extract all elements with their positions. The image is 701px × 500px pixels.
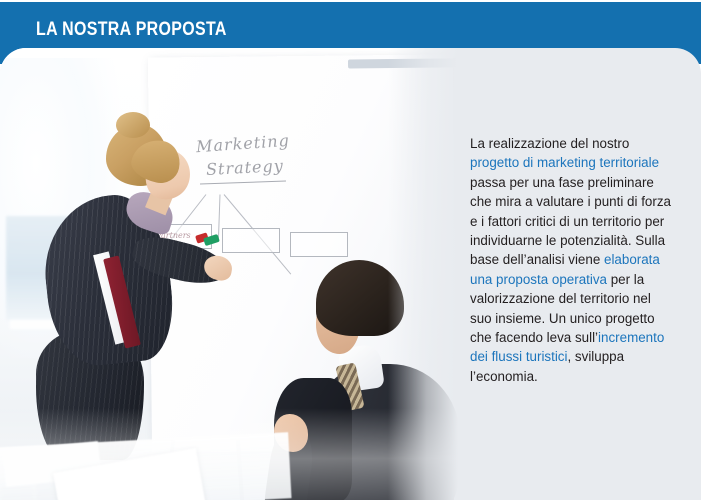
woman-hair-bun	[116, 112, 150, 138]
meeting-photo: Marketing Strategy Partners	[0, 48, 458, 500]
slide-root: LA NOSTRA PROPOSTA Marketing Strategy Pa	[0, 0, 701, 500]
body-paragraph: La realizzazione del nostro progetto di …	[470, 134, 676, 386]
text-column: La realizzazione del nostro progetto di …	[470, 134, 676, 386]
man-hair	[316, 260, 404, 336]
man-seated	[288, 260, 458, 500]
content-card: Marketing Strategy Partners	[0, 48, 701, 500]
page-title: LA NOSTRA PROPOSTA	[36, 19, 227, 41]
woman-presenter	[28, 120, 218, 460]
highlighted-phrase: progetto di marketing territoriale	[470, 155, 659, 170]
body-text-run: La realizzazione del nostro	[470, 136, 629, 151]
flipchart-clip	[348, 58, 458, 68]
flipchart-box-right	[290, 232, 348, 257]
flipchart-box-center	[222, 228, 280, 253]
